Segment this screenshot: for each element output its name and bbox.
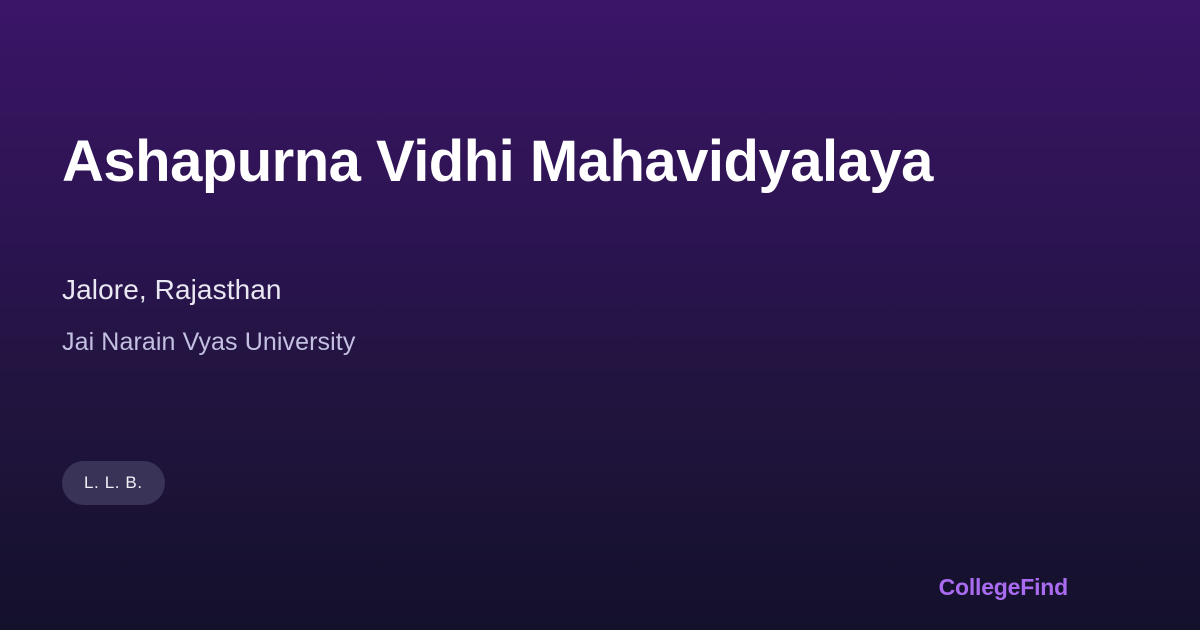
college-affiliation: Jai Narain Vyas University xyxy=(62,326,355,358)
degree-badge-list: L. L. B. xyxy=(62,461,165,505)
card-content: Ashapurna Vidhi Mahavidyalaya Jalore, Ra… xyxy=(62,0,1062,630)
brand-logo: CollegeFind xyxy=(939,573,1068,601)
college-preview-card: Ashapurna Vidhi Mahavidyalaya Jalore, Ra… xyxy=(0,0,1200,630)
page-title: Ashapurna Vidhi Mahavidyalaya xyxy=(62,128,933,196)
status-badge: L. L. B. xyxy=(62,461,165,505)
college-location: Jalore, Rajasthan xyxy=(62,273,282,307)
